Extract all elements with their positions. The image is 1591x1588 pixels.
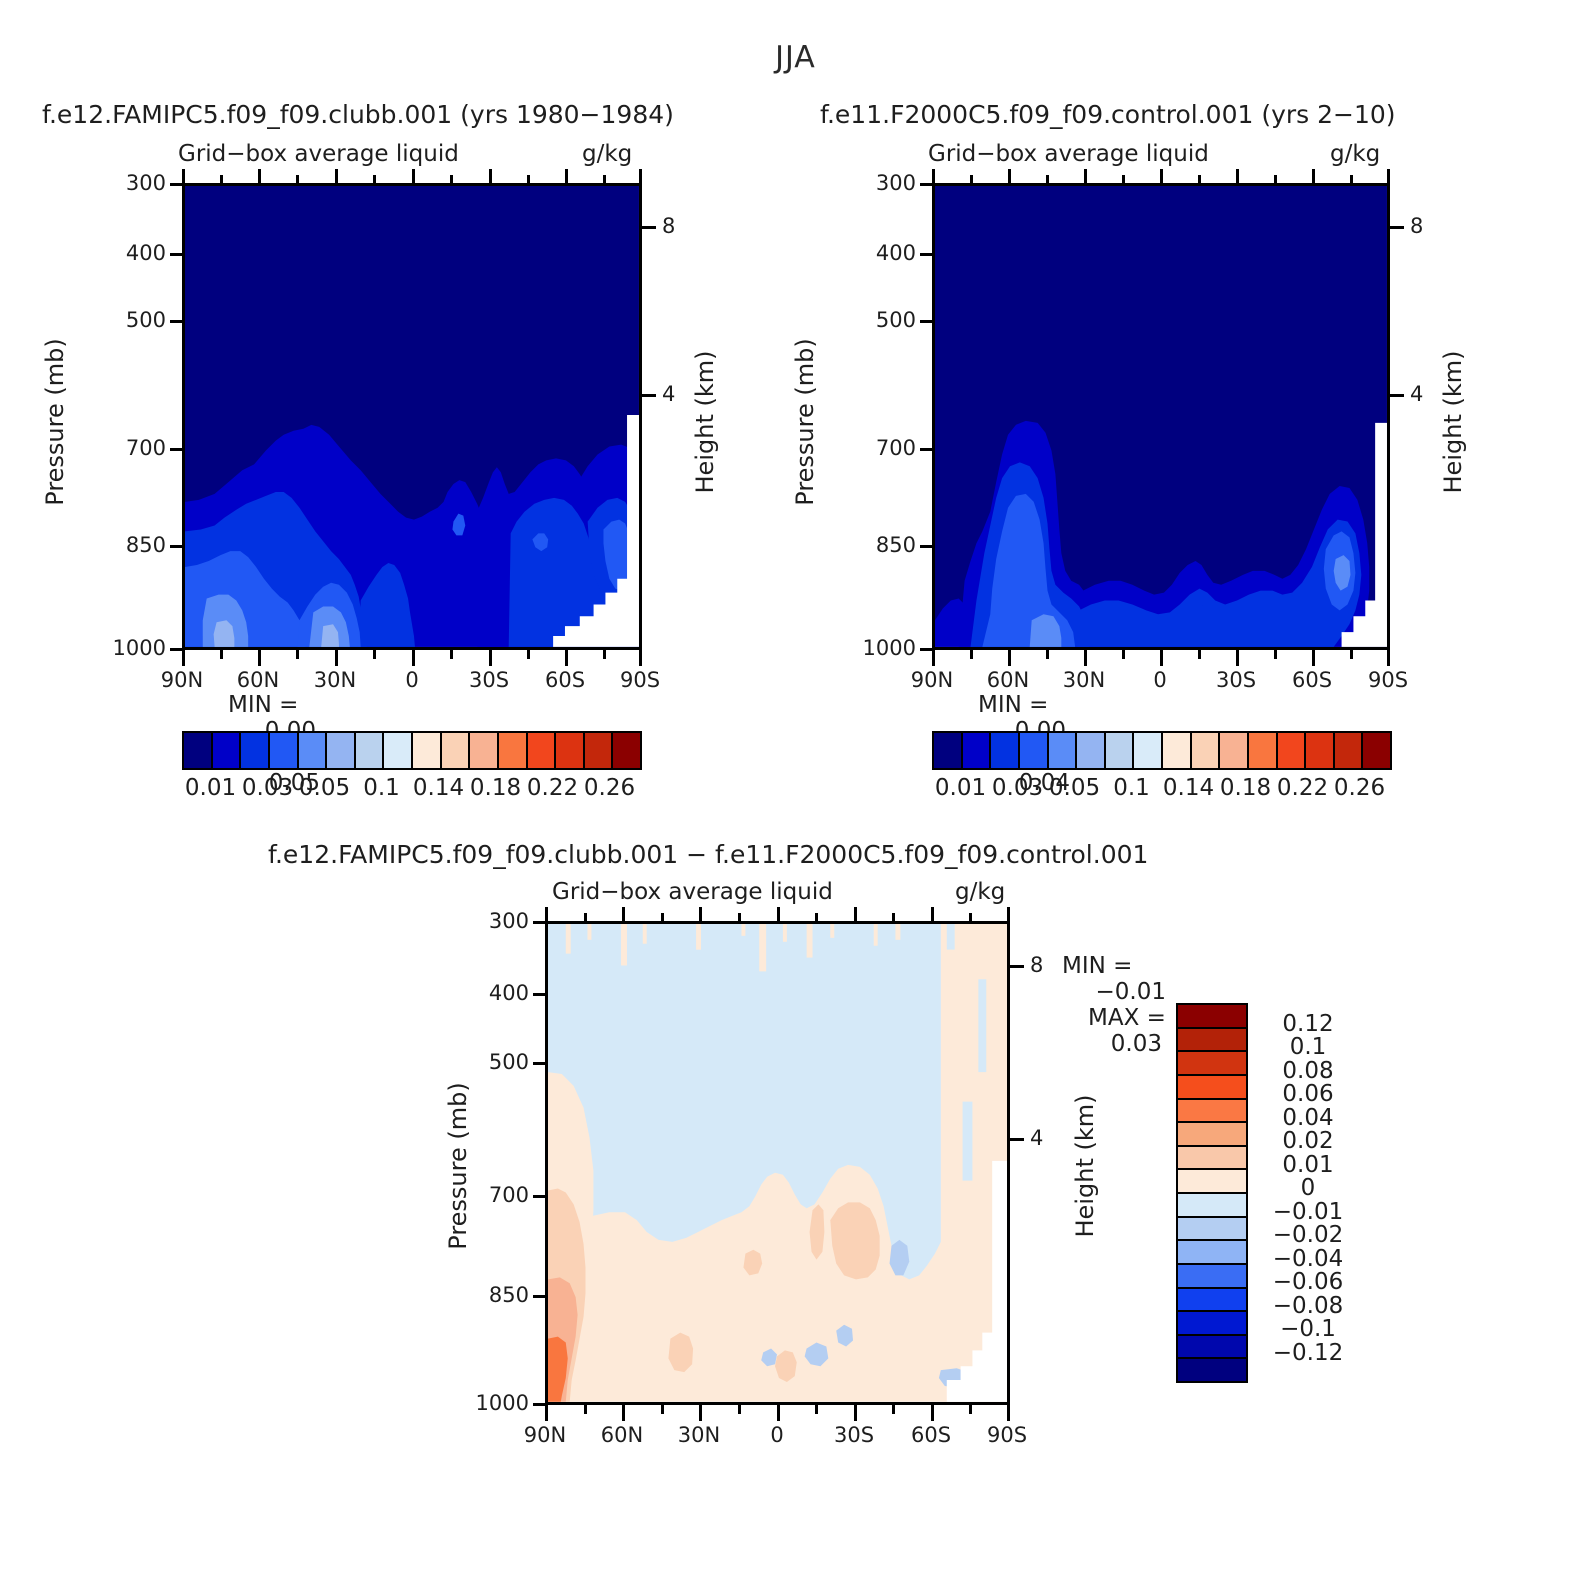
pressure-tick-500: 500	[475, 1050, 529, 1074]
colorbar-cell	[613, 733, 640, 768]
height-tick-8: 8	[1030, 953, 1043, 977]
lat-tick-60N: 60N	[582, 1423, 662, 1447]
panel-right-units: g/kg	[1330, 141, 1380, 167]
panel-left-min-label: MIN =	[228, 692, 298, 718]
colorbar-cell	[470, 733, 499, 768]
season-title: JJA	[0, 40, 1591, 75]
colorbar-tick-label: 0.08	[1252, 1058, 1364, 1084]
panel-left-pressure-axis-label: Pressure (mb)	[41, 322, 69, 522]
pressure-tick-850: 850	[475, 1283, 529, 1307]
colorbar-cell	[270, 733, 299, 768]
colorbar-cell	[1306, 733, 1335, 768]
colorbar-tick-label: 0.1	[1252, 1034, 1364, 1060]
pressure-tick-500: 500	[112, 308, 166, 332]
colorbar-cell	[1178, 1170, 1246, 1194]
lat-tick-90N: 90N	[505, 1423, 585, 1447]
colorbar-cell	[1178, 1005, 1246, 1029]
panel-right-height-axis-label: Height (km)	[1439, 322, 1467, 522]
panel-right-colorbar-labels: 0.010.030.050.10.140.180.220.26	[932, 775, 1388, 805]
lat-tick-0: 0	[372, 668, 452, 692]
panel-diff-contour-field	[548, 924, 1007, 1402]
pressure-tick-300: 300	[112, 171, 166, 195]
colorbar-cell	[1178, 1312, 1246, 1336]
panel-diff-max-value: 0.03	[1062, 1031, 1162, 1057]
colorbar-cell	[528, 733, 557, 768]
colorbar-tick-label: 0.12	[1252, 1011, 1364, 1037]
panel-diff-height-axis-label: Height (km)	[1071, 1066, 1099, 1266]
pressure-tick-700: 700	[112, 436, 166, 460]
colorbar-cell	[1178, 1029, 1246, 1053]
colorbar-cell	[442, 733, 471, 768]
pressure-tick-1000: 1000	[463, 1391, 529, 1415]
colorbar-tick-label: 0.26	[570, 775, 650, 801]
colorbar-tick-label: −0.08	[1252, 1293, 1364, 1319]
panel-diff-min-value: −0.01	[1062, 979, 1166, 1005]
panel-left-plot-area[interactable]	[182, 183, 642, 650]
pressure-tick-850: 850	[112, 533, 166, 557]
colorbar-cell	[585, 733, 614, 768]
height-tick-4: 4	[1410, 382, 1423, 406]
panel-right-pressure-axis-label: Pressure (mb)	[791, 322, 819, 522]
colorbar-tick-label: 0.26	[1320, 775, 1400, 801]
colorbar-tick-label: 0.04	[1252, 1105, 1364, 1131]
lat-tick-0: 0	[737, 1423, 817, 1447]
panel-right-plot-area[interactable]	[932, 183, 1390, 650]
colorbar-cell	[1163, 733, 1192, 768]
panel-diff-colorbar[interactable]	[1176, 1003, 1248, 1383]
panel-right-title: f.e11.F2000C5.f09_f09.control.001 (yrs 2…	[820, 100, 1396, 129]
panel-diff-max-label: MAX =	[1088, 1005, 1166, 1031]
colorbar-tick-label: 0	[1252, 1175, 1364, 1201]
panel-diff-pressure-axis-label: Pressure (mb)	[444, 1066, 472, 1266]
colorbar-cell	[213, 733, 242, 768]
pressure-tick-700: 700	[862, 436, 916, 460]
lat-tick-0: 0	[1120, 668, 1200, 692]
pressure-tick-300: 300	[862, 171, 916, 195]
lat-tick-30N: 30N	[659, 1423, 739, 1447]
lat-tick-90S: 90S	[600, 668, 680, 692]
colorbar-cell	[1178, 1289, 1246, 1313]
colorbar-tick-label: −0.1	[1252, 1316, 1364, 1342]
colorbar-cell	[241, 733, 270, 768]
colorbar-cell	[1178, 1100, 1246, 1124]
lat-tick-60N: 60N	[968, 668, 1048, 692]
panel-diff-units: g/kg	[955, 879, 1005, 905]
lat-tick-30N: 30N	[295, 668, 375, 692]
colorbar-cell	[1192, 733, 1221, 768]
panel-right-field-title: Grid−box average liquid	[928, 141, 1209, 167]
height-tick-8: 8	[662, 214, 675, 238]
colorbar-cell	[1106, 733, 1135, 768]
panel-left-colorbar[interactable]	[182, 731, 642, 770]
colorbar-cell	[1178, 1076, 1246, 1100]
colorbar-tick-label: 0.01	[1252, 1152, 1364, 1178]
colorbar-cell	[1178, 1052, 1246, 1076]
pressure-tick-400: 400	[475, 981, 529, 1005]
height-tick-4: 4	[662, 382, 675, 406]
lat-tick-90S: 90S	[967, 1423, 1047, 1447]
colorbar-cell	[556, 733, 585, 768]
colorbar-cell	[1278, 733, 1307, 768]
colorbar-cell	[1178, 1241, 1246, 1265]
lat-tick-90S: 90S	[1348, 668, 1428, 692]
colorbar-cell	[1178, 1359, 1246, 1381]
colorbar-cell	[384, 733, 413, 768]
colorbar-cell	[327, 733, 356, 768]
lat-tick-30S: 30S	[814, 1423, 894, 1447]
panel-left-height-axis-label: Height (km)	[691, 322, 719, 522]
colorbar-cell	[1178, 1147, 1246, 1171]
colorbar-cell	[934, 733, 963, 768]
colorbar-cell	[1335, 733, 1364, 768]
pressure-tick-400: 400	[862, 241, 916, 265]
colorbar-tick-label: 0.06	[1252, 1081, 1364, 1107]
panel-right-colorbar[interactable]	[932, 731, 1392, 770]
pressure-tick-500: 500	[862, 308, 916, 332]
pressure-tick-400: 400	[112, 241, 166, 265]
colorbar-cell	[413, 733, 442, 768]
colorbar-tick-label: −0.02	[1252, 1222, 1364, 1248]
pressure-tick-850: 850	[862, 533, 916, 557]
colorbar-cell	[184, 733, 213, 768]
panel-diff-field-title: Grid−box average liquid	[552, 879, 833, 905]
lat-tick-60N: 60N	[218, 668, 298, 692]
pressure-tick-1000: 1000	[850, 636, 916, 660]
lat-tick-30S: 30S	[449, 668, 529, 692]
colorbar-tick-label: −0.01	[1252, 1199, 1364, 1225]
colorbar-cell	[1363, 733, 1390, 768]
colorbar-cell	[1249, 733, 1278, 768]
colorbar-tick-label: −0.04	[1252, 1246, 1364, 1272]
lat-tick-60S: 60S	[1272, 668, 1352, 692]
colorbar-cell	[299, 733, 328, 768]
panel-diff-minmax: MIN = −0.01 MAX = 0.03	[1062, 953, 1166, 1057]
lat-tick-30N: 30N	[1044, 668, 1124, 692]
panel-right-min-label: MIN =	[978, 692, 1048, 718]
colorbar-cell	[1220, 733, 1249, 768]
colorbar-cell	[1134, 733, 1163, 768]
colorbar-tick-label: 0.02	[1252, 1128, 1364, 1154]
colorbar-cell	[1178, 1194, 1246, 1218]
colorbar-cell	[1178, 1123, 1246, 1147]
colorbar-cell	[499, 733, 528, 768]
panel-diff-min-label: MIN =	[1062, 953, 1132, 979]
lat-tick-90N: 90N	[142, 668, 222, 692]
colorbar-cell	[1178, 1218, 1246, 1242]
pressure-tick-700: 700	[475, 1183, 529, 1207]
colorbar-cell	[1077, 733, 1106, 768]
colorbar-tick-label: −0.12	[1252, 1340, 1364, 1366]
lat-tick-60S: 60S	[525, 668, 605, 692]
height-tick-8: 8	[1410, 214, 1423, 238]
colorbar-cell	[991, 733, 1020, 768]
panel-left-colorbar-labels: 0.010.030.050.10.140.180.220.26	[182, 775, 638, 805]
colorbar-cell	[1178, 1265, 1246, 1289]
panel-diff-title: f.e12.FAMIPC5.f09_f09.clubb.001 − f.e11.…	[268, 840, 1148, 869]
pressure-tick-1000: 1000	[100, 636, 166, 660]
panel-diff-colorbar-labels: 0.120.10.080.060.040.020.010−0.01−0.02−0…	[1252, 1003, 1392, 1379]
colorbar-tick-label: −0.06	[1252, 1269, 1364, 1295]
panel-left-units: g/kg	[582, 141, 632, 167]
panel-right-contour-field	[935, 186, 1387, 647]
colorbar-cell	[1178, 1336, 1246, 1360]
panel-diff-plot-area[interactable]	[545, 921, 1010, 1405]
colorbar-cell	[1020, 733, 1049, 768]
colorbar-cell	[963, 733, 992, 768]
colorbar-cell	[356, 733, 385, 768]
colorbar-cell	[1049, 733, 1078, 768]
panel-left-title: f.e12.FAMIPC5.f09_f09.clubb.001 (yrs 198…	[42, 100, 674, 129]
panel-left-field-title: Grid−box average liquid	[178, 141, 459, 167]
lat-tick-30S: 30S	[1196, 668, 1276, 692]
lat-tick-90N: 90N	[892, 668, 972, 692]
height-tick-4: 4	[1030, 1126, 1043, 1150]
lat-tick-60S: 60S	[891, 1423, 971, 1447]
panel-left-contour-field	[185, 186, 639, 647]
pressure-tick-300: 300	[475, 909, 529, 933]
